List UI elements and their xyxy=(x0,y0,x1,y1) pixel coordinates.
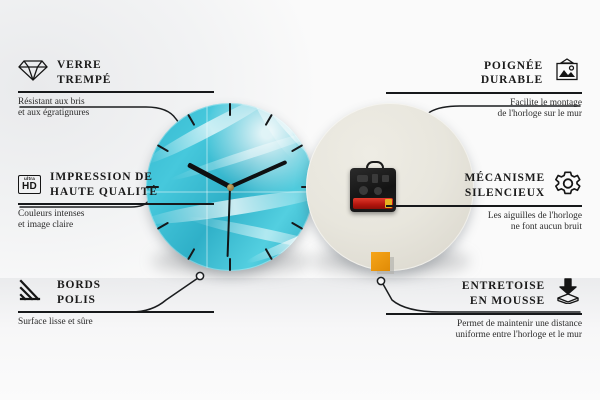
feature-title: VERRETREMPÉ xyxy=(57,58,111,87)
feature-divider xyxy=(386,92,582,94)
feature-head: ultra HD IMPRESSION DEHAUTE QUALITÉ xyxy=(18,170,214,199)
feature-desc: Couleurs intenseset image claire xyxy=(18,209,214,232)
diamond-icon xyxy=(18,58,48,87)
feature-bords-polis: BORDSPOLIS Surface lisse et sûre xyxy=(18,278,214,328)
mechanism-detail xyxy=(357,175,368,182)
feature-title: MÉCANISMESILENCIEUX xyxy=(465,171,546,200)
feature-entretoise-mousse: ENTRETOISEEN MOUSSE Permet de maintenir … xyxy=(386,278,582,342)
mechanism-detail xyxy=(374,187,382,195)
feature-head: VERRETREMPÉ xyxy=(18,58,214,87)
ultra-hd-badge-icon: ultra HD xyxy=(18,175,41,194)
clock-center-cap xyxy=(227,184,234,191)
feature-desc: Résistant aux briset aux égratignures xyxy=(18,97,214,120)
feature-head: BORDSPOLIS xyxy=(18,278,214,307)
mechanism-detail xyxy=(372,174,378,183)
feature-title: POIGNÉEDURABLE xyxy=(481,59,543,88)
picture-frame-hanger-icon xyxy=(552,58,582,88)
feature-divider xyxy=(386,313,582,315)
feature-head: MÉCANISMESILENCIEUX xyxy=(386,170,582,201)
foam-spacer xyxy=(371,252,390,271)
feature-poignee-durable: POIGNÉEDURABLE Facilite le montagede l'h… xyxy=(386,58,582,121)
foam-spacer-arrow-icon xyxy=(554,278,582,309)
clock-tick xyxy=(230,186,314,188)
polished-edges-icon xyxy=(18,278,48,307)
infographic-canvas: VERRETREMPÉ Résistant aux briset aux égr… xyxy=(0,0,600,400)
feature-desc: Les aiguilles de l'horlogene font aucun … xyxy=(386,211,582,234)
feature-title: BORDSPOLIS xyxy=(57,278,101,307)
feature-verre-trempe: VERRETREMPÉ Résistant aux briset aux égr… xyxy=(18,58,214,120)
ultra-hd-main-label: HD xyxy=(22,182,37,192)
gear-icon xyxy=(554,170,582,201)
feature-divider xyxy=(18,311,214,313)
feature-head: ENTRETOISEEN MOUSSE xyxy=(386,278,582,309)
feature-impression: ultra HD IMPRESSION DEHAUTE QUALITÉ Coul… xyxy=(18,170,214,232)
feature-title: ENTRETOISEEN MOUSSE xyxy=(462,279,545,308)
feature-divider xyxy=(18,203,214,205)
marker-entretoise xyxy=(377,277,384,284)
feature-divider xyxy=(18,91,214,93)
feature-title: IMPRESSION DEHAUTE QUALITÉ xyxy=(50,170,158,199)
feature-desc: Facilite le montagede l'horloge sur le m… xyxy=(386,98,582,121)
feature-desc: Permet de maintenir une distanceuniforme… xyxy=(386,319,582,342)
clock-tick xyxy=(229,103,231,187)
mechanism-detail xyxy=(359,186,368,195)
feature-desc: Surface lisse et sûre xyxy=(18,317,214,329)
feature-mecanisme-silencieux: MÉCANISMESILENCIEUX Les aiguilles de l'h… xyxy=(386,170,582,234)
feature-divider xyxy=(386,205,582,207)
feature-head: POIGNÉEDURABLE xyxy=(386,58,582,88)
